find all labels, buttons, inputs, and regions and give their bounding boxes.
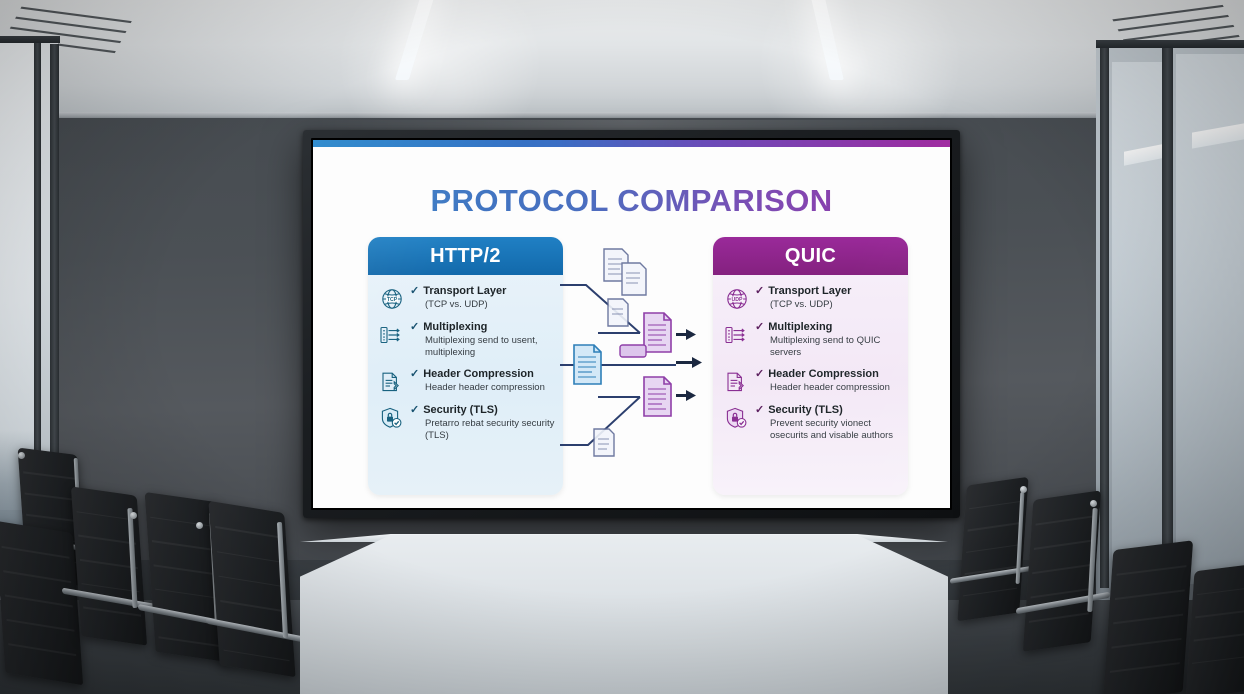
feature-description: Multiplexing send to usent, multiplexing — [425, 335, 555, 358]
check-icon: ✓ — [755, 404, 764, 417]
feature-title: Multiplexing — [423, 321, 487, 334]
document-purple-icon-top — [644, 313, 671, 352]
window-header-left — [0, 36, 60, 43]
shield-lock-icon — [721, 404, 753, 430]
document-scatter-4 — [594, 429, 614, 456]
check-icon: ✓ — [755, 368, 764, 381]
comparison-panels: HTTP/2 — [313, 237, 950, 501]
wall-display[interactable]: PROTOCOL COMPARISON HTTP/2 — [303, 130, 960, 518]
feature-body: ✓ Multiplexing Multiplexing send to QUIC… — [753, 321, 900, 358]
feature-title: Header Compression — [768, 368, 879, 381]
document-scatter-2 — [622, 263, 646, 295]
feature-security-tls-quic[interactable]: ✓ Security (TLS) Prevent security vionec… — [721, 404, 900, 441]
svg-text:TCP: TCP — [387, 297, 398, 303]
document-blue-icon — [574, 345, 601, 384]
document-purple-icon-bottom — [644, 377, 671, 416]
display-screen[interactable]: PROTOCOL COMPARISON HTTP/2 — [313, 140, 950, 508]
feature-body: ✓ Transport Layer (TCP vs. UDP) — [753, 285, 900, 311]
header-compression-document-icon — [721, 368, 753, 394]
feature-transport-layer-quic[interactable]: UDP ✓ Transport Layer (TCP vs. UDP) — [721, 285, 900, 311]
shield-lock-icon — [376, 404, 408, 430]
feature-description: Header header compression — [770, 382, 900, 394]
feature-multiplexing-http2[interactable]: ✓ Multiplexing Multiplexing send to usen… — [376, 321, 555, 358]
header-compression-document-icon — [376, 368, 408, 394]
feature-description: Multiplexing send to QUIC servers — [770, 335, 900, 358]
feature-title: Transport Layer — [423, 285, 506, 298]
feature-transport-layer-http2[interactable]: TCP ✓ Transport Layer (TCP vs. UDP) — [376, 285, 555, 311]
conference-room-scene: PROTOCOL COMPARISON HTTP/2 — [0, 0, 1244, 694]
feature-body: ✓ Security (TLS) Pretarro rebat security… — [408, 404, 555, 441]
check-icon: ✓ — [410, 321, 419, 334]
multiplexing-streams-icon — [376, 321, 408, 347]
panel-quic[interactable]: QUIC — [713, 237, 908, 495]
partition-mullion-1 — [1100, 48, 1109, 588]
feature-body: ✓ Transport Layer (TCP vs. UDP) — [408, 285, 555, 311]
feature-body: ✓ Header Compression Header header compr… — [753, 368, 900, 394]
glass-pane-1 — [1112, 62, 1162, 582]
partition-mullion-2 — [1162, 42, 1173, 590]
feature-description: Header header compression — [425, 382, 555, 394]
panel-http2-header: HTTP/2 — [368, 237, 563, 275]
feature-multiplexing-quic[interactable]: ✓ Multiplexing Multiplexing send to QUIC… — [721, 321, 900, 358]
packet-flow-diagram — [558, 241, 718, 491]
panel-quic-header: QUIC — [713, 237, 908, 275]
globe-udp-icon: UDP — [721, 285, 753, 311]
slide-title: PROTOCOL COMPARISON — [313, 183, 950, 219]
check-icon: ✓ — [410, 285, 419, 298]
check-icon: ✓ — [410, 368, 419, 381]
feature-header-compression-quic[interactable]: ✓ Header Compression Header header compr… — [721, 368, 900, 394]
check-icon: ✓ — [410, 404, 419, 417]
panel-quic-feature-list: UDP ✓ Transport Layer (TCP vs. UDP) — [713, 275, 908, 449]
panel-http2[interactable]: HTTP/2 — [368, 237, 563, 495]
arrow-head-middle — [676, 357, 702, 368]
partition-header — [1096, 40, 1244, 48]
feature-description: Pretarro rebat security security (TLS) — [425, 418, 555, 441]
panel-http2-feature-list: TCP ✓ Transport Layer (TCP vs. UDP) — [368, 275, 563, 449]
feature-title: Transport Layer — [768, 285, 851, 298]
feature-security-tls-http2[interactable]: ✓ Security (TLS) Pretarro rebat security… — [376, 404, 555, 441]
feature-title: Header Compression — [423, 368, 534, 381]
feature-description: (TCP vs. UDP) — [425, 299, 555, 311]
arrow-head-top — [676, 329, 696, 340]
packet-chip-icon — [620, 345, 646, 357]
multiplexing-streams-icon — [721, 321, 753, 347]
globe-tcp-icon: TCP — [376, 285, 408, 311]
slide-accent-bar — [313, 140, 950, 147]
arrow-head-bottom — [676, 390, 696, 401]
conference-table[interactable] — [300, 535, 948, 694]
document-scatter-3 — [608, 299, 628, 326]
feature-title: Security (TLS) — [423, 404, 498, 417]
check-icon: ✓ — [755, 321, 764, 334]
feature-body: ✓ Multiplexing Multiplexing send to usen… — [408, 321, 555, 358]
ceiling — [0, 0, 1244, 118]
feature-title: Security (TLS) — [768, 404, 843, 417]
feature-title: Multiplexing — [768, 321, 832, 334]
slide-canvas: PROTOCOL COMPARISON HTTP/2 — [313, 147, 950, 508]
feature-body: ✓ Security (TLS) Prevent security vionec… — [753, 404, 900, 441]
feature-body: ✓ Header Compression Header header compr… — [408, 368, 555, 394]
check-icon: ✓ — [755, 285, 764, 298]
feature-header-compression-http2[interactable]: ✓ Header Compression Header header compr… — [376, 368, 555, 394]
feature-description: Prevent security vionect osecurits and v… — [770, 418, 900, 441]
svg-text:UDP: UDP — [732, 297, 743, 303]
feature-description: (TCP vs. UDP) — [770, 299, 900, 311]
